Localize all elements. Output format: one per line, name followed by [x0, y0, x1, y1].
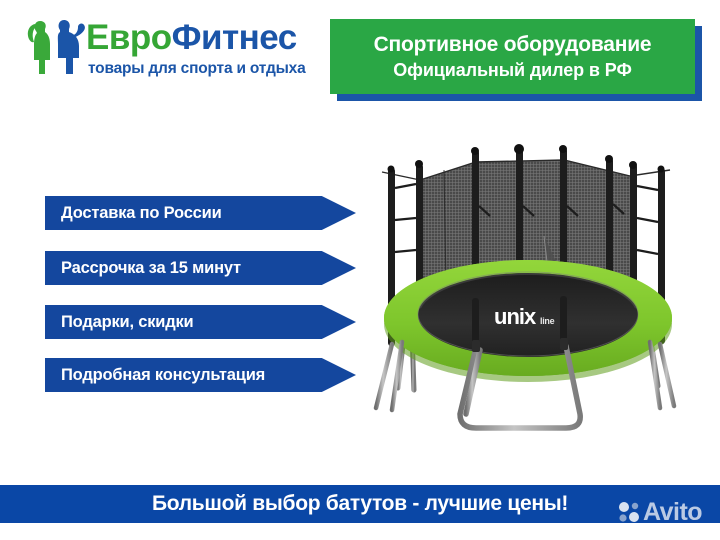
trampoline-illustration: unix line	[368, 128, 712, 468]
listing-image-canvas: ЕвроФитнес товары для спорта и отдыха Сп…	[0, 0, 720, 540]
feature-label: Подробная консультация	[45, 366, 265, 385]
logo-tagline: товары для спорта и отдыха	[88, 60, 334, 78]
brand-logo: ЕвроФитнес товары для спорта и отдыха	[24, 16, 324, 88]
feature-arrow-gifts[interactable]: Подарки, скидки	[45, 305, 356, 339]
logo-wordmark: ЕвроФитнес	[86, 16, 326, 60]
svg-text:unix: unix	[494, 304, 537, 329]
feature-arrow-consultation[interactable]: Подробная консультация	[45, 358, 356, 392]
avito-wordmark: Avito	[643, 499, 702, 525]
feature-label: Доставка по России	[45, 204, 222, 223]
logo-word-part-2: Фитнес	[172, 18, 297, 57]
svg-text:line: line	[540, 316, 555, 326]
header-banner-line-1: Спортивное оборудование	[374, 32, 652, 58]
header-banner-body: Спортивное оборудование Официальный диле…	[330, 19, 695, 94]
feature-arrow-installment[interactable]: Рассрочка за 15 минут	[45, 251, 356, 285]
avito-watermark: Avito	[616, 495, 716, 529]
footer-banner-text: Большой выбор батутов - лучшие цены!	[152, 492, 568, 516]
feature-arrow-delivery[interactable]: Доставка по России	[45, 196, 356, 230]
logo-word-part-1: Евро	[86, 18, 172, 57]
feature-list: Доставка по России Рассрочка за 15 минут…	[45, 196, 365, 396]
product-image: unix line	[368, 128, 712, 468]
footer-banner: Большой выбор батутов - лучшие цены!	[0, 485, 720, 523]
fitness-figures-icon	[24, 18, 90, 76]
header-banner: Спортивное оборудование Официальный диле…	[330, 19, 702, 101]
avito-dots-icon	[616, 499, 642, 525]
header-banner-line-2: Официальный дилер в РФ	[393, 58, 631, 82]
feature-label: Подарки, скидки	[45, 313, 193, 332]
feature-label: Рассрочка за 15 минут	[45, 259, 241, 278]
